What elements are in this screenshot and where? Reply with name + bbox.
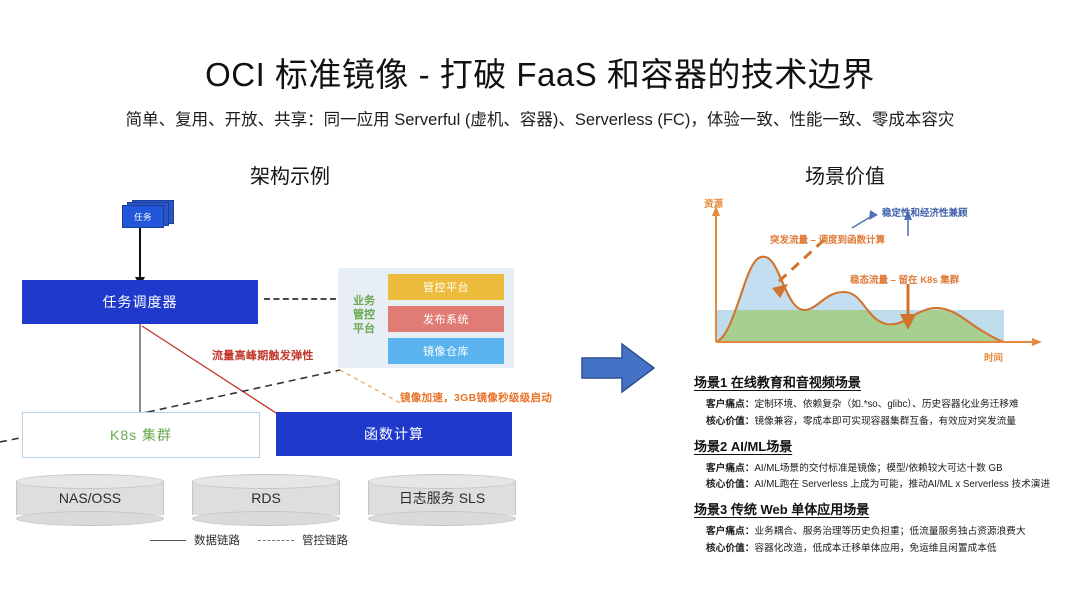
chart-x-axis-label: 时间 xyxy=(984,350,1003,364)
legend-control-link-label: 管控链路 xyxy=(302,532,348,548)
scenario-item-1: 场景1 在线教育和音视频场景 客户痛点：定制环境、依赖复杂（如.*so、glib… xyxy=(694,372,1074,427)
k8s-cluster-box[interactable]: K8s 集群 xyxy=(22,412,260,458)
steady-traffic-annotation: 稳态流量 – 留在 K8s 集群 xyxy=(850,272,959,286)
scenario-value-line: 核心价值：容器化改造，低成本迁移单体应用，免运维且闲置成本低 xyxy=(706,540,1074,554)
architecture-diagram: 任务 任务调度器 业务 管控 平台 管控平台 发布系统 镜像仓库 流量高峰期触发… xyxy=(0,180,560,580)
function-compute-box[interactable]: 函数计算 xyxy=(276,412,512,456)
bcp-label-line-1: 业务 xyxy=(346,294,382,308)
legend-data-link-label: 数据链路 xyxy=(194,532,240,548)
scenario-value-line: 核心价值：AI/ML跑在 Serverless 上成为可能，推动AI/ML x … xyxy=(706,476,1074,490)
scheduler-to-k8s-line xyxy=(139,324,141,412)
page-subtitle: 简单、复用、开放、共享：同一应用 Serverful (虚机、容器)、Serve… xyxy=(0,106,1080,130)
storage-nas-oss[interactable]: NAS/OSS xyxy=(16,474,164,518)
bcp-label-line-2: 管控 xyxy=(346,308,382,322)
scenario-title: 场景1 在线教育和音视频场景 xyxy=(694,372,1074,391)
scenario-painpoint-label: 客户痛点： xyxy=(706,526,754,537)
scenario-value-label: 核心价值： xyxy=(706,543,754,554)
transition-arrow-icon xyxy=(578,336,658,400)
scenario-item-2: 场景2 AI/ML场景 客户痛点：AI/ML场景的交付标准是镜像；模型/依赖较大… xyxy=(694,436,1074,491)
scenario-painpoint-label: 客户痛点： xyxy=(706,399,754,410)
scenario-painpoint-text: 定制环境、依赖复杂（如.*so、glibc）、历史容器化业务迁移难 xyxy=(754,399,1018,410)
bcp-label-line-3: 平台 xyxy=(346,322,382,336)
scenario-painpoint-line: 客户痛点：业务耦合、服务治理等历史负担重；低流量服务独占资源浪费大 xyxy=(706,523,1074,537)
chart-y-axis-label: 资源 xyxy=(704,196,723,210)
burst-traffic-annotation: 突发流量 – 调度到函数计算 xyxy=(770,232,885,246)
solid-line-icon xyxy=(150,540,186,541)
scheduler-box[interactable]: 任务调度器 xyxy=(22,280,258,324)
storage-label: 日志服务 SLS xyxy=(368,474,516,522)
scenario-value-text: 容器化改造，低成本迁移单体应用，免运维且闲置成本低 xyxy=(754,543,996,554)
storage-rds[interactable]: RDS xyxy=(192,474,340,518)
dashed-line-icon xyxy=(258,540,294,541)
scenario-value-line: 核心价值：镜像兼容，零成本即可实现容器集群互备，有效应对突发流量 xyxy=(706,413,1074,427)
stability-economy-annotation: 稳定性和经济性兼顾 xyxy=(882,205,968,219)
task-stack-box: 任务 xyxy=(122,200,168,226)
scenario-value-text: AI/ML跑在 Serverless 上成为可能，推动AI/ML x Serve… xyxy=(754,479,1050,490)
elasticity-annotation: 流量高峰期触发弹性 xyxy=(212,347,314,363)
task-box-label: 任务 xyxy=(122,205,164,228)
release-system-row[interactable]: 发布系统 xyxy=(388,306,504,332)
scenario-value-chart: 资源 时间 突发流量 – 调度到函数计算 稳态流量 – 留在 K8s 集群 稳定… xyxy=(684,188,1076,373)
diagonal-arrow-head-icon xyxy=(869,210,878,220)
scheduler-to-panel-dashed-line xyxy=(264,298,336,300)
scenario-value-label: 核心价值： xyxy=(706,416,754,427)
image-registry-row[interactable]: 镜像仓库 xyxy=(388,338,504,364)
storage-label: NAS/OSS xyxy=(16,474,164,522)
control-platform-row[interactable]: 管控平台 xyxy=(388,274,504,300)
storage-label: RDS xyxy=(192,474,340,522)
scenario-painpoint-label: 客户痛点： xyxy=(706,463,754,474)
scenario-value-label: 核心价值： xyxy=(706,479,754,490)
task-to-scheduler-arrow xyxy=(139,228,141,278)
storage-sls[interactable]: 日志服务 SLS xyxy=(368,474,516,518)
section-heading-value: 场景价值 xyxy=(805,160,885,189)
scenario-list: 场景1 在线教育和音视频场景 客户痛点：定制环境、依赖复杂（如.*so、glib… xyxy=(694,372,1074,563)
scenario-painpoint-line: 客户痛点：定制环境、依赖复杂（如.*so、glibc）、历史容器化业务迁移难 xyxy=(706,396,1074,410)
scenario-painpoint-line: 客户痛点：AI/ML场景的交付标准是镜像；模型/依赖较大可达十数 GB xyxy=(706,460,1074,474)
scenario-painpoint-text: AI/ML场景的交付标准是镜像；模型/依赖较大可达十数 GB xyxy=(754,463,1002,474)
scenario-title: 场景2 AI/ML场景 xyxy=(694,436,1074,455)
image-acceleration-annotation: 镜像加速，3GB镜像秒级级启动 xyxy=(400,390,552,405)
scenario-painpoint-text: 业务耦合、服务治理等历史负担重；低流量服务独占资源浪费大 xyxy=(754,526,1025,537)
business-control-panel-label: 业务 管控 平台 xyxy=(346,294,382,336)
diagonal-hint-arrow xyxy=(852,216,872,228)
diagram-legend: 数据链路 管控链路 xyxy=(150,532,430,548)
slide-root: OCI 标准镜像 - 打破 FaaS 和容器的技术边界 简单、复用、开放、共享：… xyxy=(0,0,1080,610)
business-control-panel: 业务 管控 平台 管控平台 发布系统 镜像仓库 xyxy=(338,268,514,368)
scenario-title: 场景3 传统 Web 单体应用场景 xyxy=(694,499,1074,518)
page-title: OCI 标准镜像 - 打破 FaaS 和容器的技术边界 xyxy=(0,48,1080,96)
x-axis-arrow-icon xyxy=(1032,338,1042,346)
scenario-item-3: 场景3 传统 Web 单体应用场景 客户痛点：业务耦合、服务治理等历史负担重；低… xyxy=(694,499,1074,554)
burst-dashed-arrow xyxy=(776,240,824,284)
scenario-value-text: 镜像兼容，零成本即可实现容器集群互备，有效应对突发流量 xyxy=(754,416,1016,427)
